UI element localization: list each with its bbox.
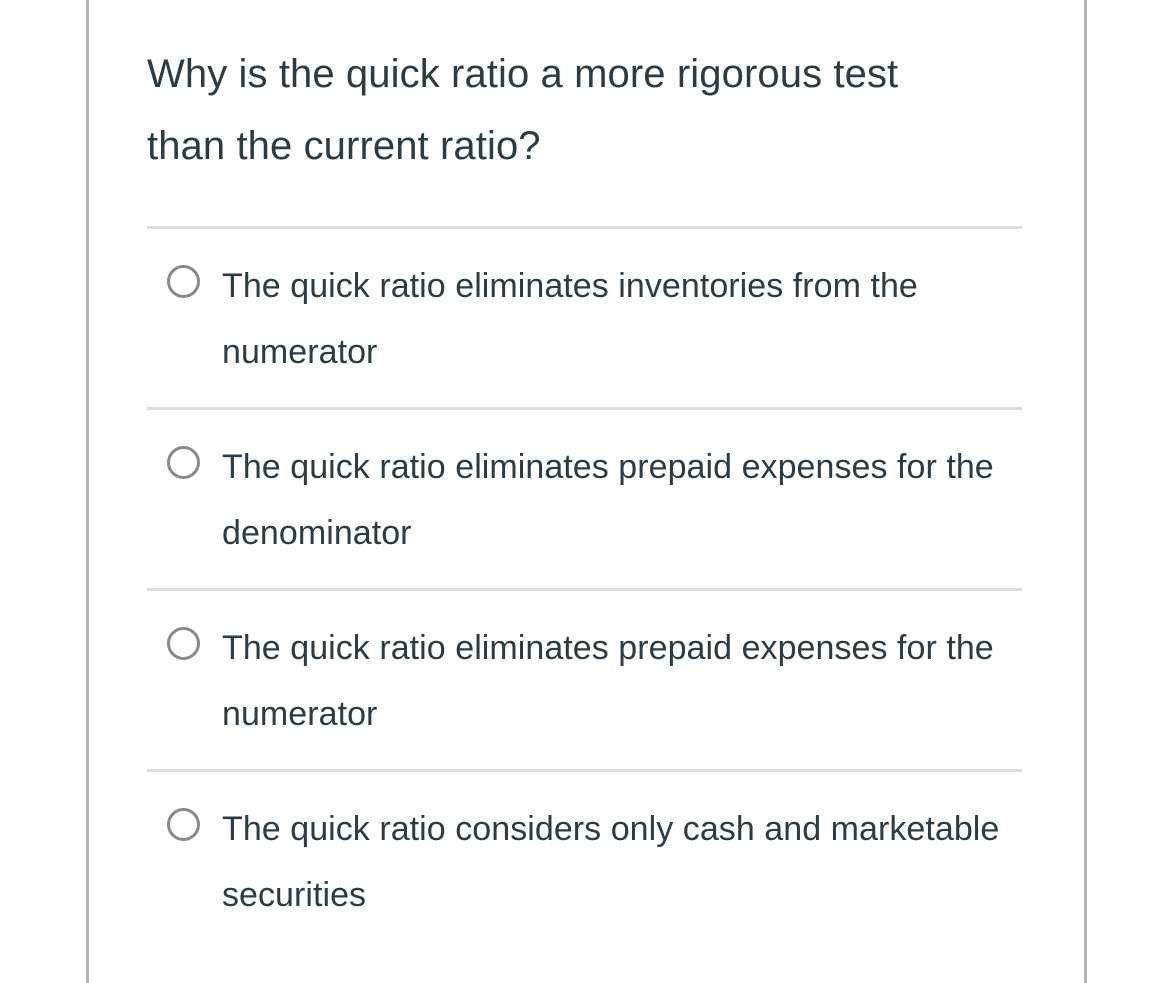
answer-option-d[interactable]: The quick ratio considers only cash and … (147, 769, 1022, 950)
question-prompt: Why is the quick ratio a more rigorous t… (147, 0, 977, 182)
answer-option-label: The quick ratio eliminates prepaid expen… (222, 434, 1012, 566)
radio-button-icon[interactable] (167, 627, 200, 660)
radio-button-icon[interactable] (167, 265, 200, 298)
container-right-rule (1084, 0, 1087, 983)
radio-button-icon[interactable] (167, 446, 200, 479)
question-content-panel: Why is the quick ratio a more rigorous t… (89, 0, 1084, 983)
answer-option-c[interactable]: The quick ratio eliminates prepaid expen… (147, 588, 1022, 769)
answer-option-label: The quick ratio considers only cash and … (222, 796, 1012, 928)
answer-option-label: The quick ratio eliminates prepaid expen… (222, 615, 1012, 747)
quiz-question-viewport: Why is the quick ratio a more rigorous t… (0, 0, 1170, 983)
answer-option-label: The quick ratio eliminates inventories f… (222, 253, 1012, 385)
answer-option-b[interactable]: The quick ratio eliminates prepaid expen… (147, 407, 1022, 588)
radio-button-icon[interactable] (167, 808, 200, 841)
answer-option-a[interactable]: The quick ratio eliminates inventories f… (147, 226, 1022, 407)
answer-options-list: The quick ratio eliminates inventories f… (147, 226, 1022, 950)
